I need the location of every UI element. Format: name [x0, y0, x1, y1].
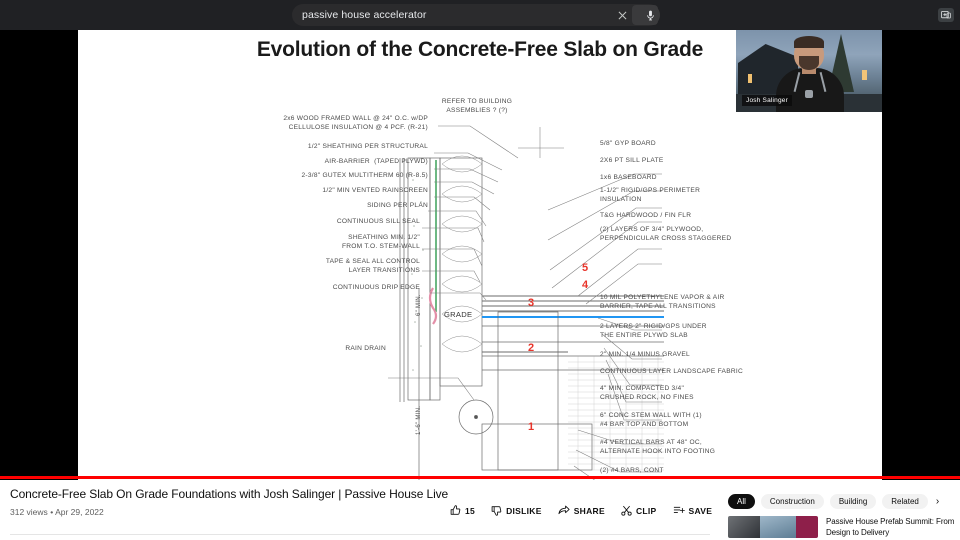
upload-date: Apr 29, 2022: [55, 507, 104, 517]
meta-separator: •: [50, 507, 53, 517]
thumbs-down-icon: [491, 505, 502, 516]
thumbnail-part: [760, 516, 796, 538]
scissors-icon: [621, 505, 632, 516]
share-button[interactable]: SHARE: [558, 505, 605, 516]
video-actions: 15 DISLIKE SHARE CLIP: [450, 505, 737, 516]
omnibox-query: passive house accelerator: [302, 9, 612, 21]
annotation-right: T&G HARDWOOD / FIN FLR: [600, 212, 840, 221]
annotation-rain-drain: RAIN DRAIN: [198, 345, 386, 354]
presenter-webcam: Josh Salinger: [736, 30, 882, 112]
annotation-right: (2) LAYERS OF 3/4" PLYWOOD, PERPENDICULA…: [600, 226, 840, 243]
grade-label: GRADE: [444, 311, 472, 320]
video-player[interactable]: Evolution of the Concrete-Free Slab on G…: [0, 30, 960, 480]
recommendations-rail: All Construction Building Related › Pass…: [720, 480, 960, 540]
annotation-right: 2" MIN. 1/4 MINUS GRAVEL: [600, 351, 840, 360]
chip-construction[interactable]: Construction: [761, 494, 824, 509]
list-item[interactable]: Passive House Prefab Summit: From Design…: [728, 516, 960, 538]
microphone-icon[interactable]: [640, 5, 660, 25]
annotation-left: SHEATHING MIN. 1/2" FROM T.O. STEM-WALL: [158, 234, 420, 251]
progress-bar[interactable]: [0, 476, 960, 479]
recommended-video-title: Passive House Prefab Summit: From Design…: [826, 516, 960, 538]
annotation-left: 2-3/8" GUTEX MULTITHERM 60 (R-8.5): [158, 172, 428, 181]
annotation-left: 1/2" MIN VENTED RAINSCREEN: [158, 187, 428, 196]
like-button[interactable]: 15: [450, 505, 475, 516]
annotation-right: (2) #4 BARS, CONT: [600, 467, 840, 476]
view-count: 312 views: [10, 507, 48, 517]
video-thumbnail: [728, 516, 818, 538]
video-metadata: 312 views • Apr 29, 2022: [10, 507, 104, 517]
annotation-left: CONTINUOUS DRIP EDGE: [158, 284, 420, 293]
presenter-name-tag: Josh Salinger: [742, 95, 792, 106]
layer-marker: 1: [528, 421, 534, 433]
youtube-watch-page: passive house accelerator: [0, 0, 960, 540]
annotation-left: SIDING PER PLAN: [158, 202, 428, 211]
clip-label: CLIP: [636, 506, 657, 516]
annotation-right: CONTINUOUS LAYER LANDSCAPE FABRIC: [600, 368, 840, 377]
layer-marker: 5: [582, 262, 588, 274]
annotation-right: #4 VERTICAL BARS AT 48" OC, ALTERNATE HO…: [600, 439, 840, 456]
presenter-hair: [794, 36, 824, 48]
thumbnail-part: [796, 516, 818, 538]
layer-marker: 4: [582, 279, 588, 291]
annotation-right: 1x6 BASEBOARD: [600, 174, 840, 183]
share-icon: [558, 505, 570, 516]
chevron-right-icon[interactable]: ›: [936, 496, 939, 507]
annotation-left: AIR-BARRIER (TAPED PLYWD): [158, 158, 428, 167]
pendant: [805, 90, 813, 98]
annotation-right: 1-1/2" RIGID/GPS PERIMETER INSULATION: [600, 187, 840, 204]
annotation-right: 10 MIL POLYETHYLENE VAPOR & AIR BARRIER,…: [600, 294, 840, 311]
address-bar[interactable]: passive house accelerator: [292, 4, 660, 26]
layer-marker: 3: [528, 297, 534, 309]
chip-building[interactable]: Building: [830, 494, 876, 509]
chip-all[interactable]: All: [728, 494, 755, 509]
dimension-label-bottom: 1'-6" MIN.: [416, 406, 422, 435]
clip-button[interactable]: CLIP: [621, 505, 657, 516]
chip-related[interactable]: Related: [882, 494, 928, 509]
dislike-label: DISLIKE: [506, 506, 542, 516]
save-button[interactable]: SAVE: [673, 505, 713, 516]
save-label: SAVE: [689, 506, 713, 516]
annotation-center-note: REFER TO BUILDING ASSEMBLIES ? (?): [412, 98, 542, 115]
annotation-left: 2x6 WOOD FRAMED WALL @ 24" O.C. w/DP CEL…: [158, 115, 428, 132]
share-label: SHARE: [574, 506, 605, 516]
annotation-right: 2X6 PT SILL PLATE: [600, 157, 840, 166]
dislike-button[interactable]: DISLIKE: [491, 505, 542, 516]
window-light: [748, 74, 752, 83]
annotation-right: 4" MIN. COMPACTED 3/4" CRUSHED ROCK, NO …: [600, 385, 840, 402]
save-icon: [673, 505, 685, 516]
window-light: [862, 70, 867, 80]
thumbs-up-icon: [450, 505, 461, 516]
section-divider: [10, 534, 710, 535]
browser-toolbar: passive house accelerator: [0, 0, 960, 30]
annotation-left: 1/2" SHEATHING PER STRUCTURAL: [158, 143, 428, 152]
thumbnail-part: [728, 516, 760, 538]
presenter-beard: [799, 56, 819, 70]
annotation-right: 2 LAYERS 2" RIGID/GPS UNDER THE ENTIRE P…: [600, 323, 840, 340]
page-title: Concrete-Free Slab On Grade Foundations …: [10, 487, 448, 501]
annotation-left: CONTINUOUS SILL SEAL: [158, 218, 420, 227]
close-icon[interactable]: [612, 5, 632, 25]
add-tab-icon[interactable]: [938, 8, 954, 22]
layer-marker: 2: [528, 342, 534, 354]
annotation-right: 5/8" GYP BOARD: [600, 140, 840, 149]
filter-chips: All Construction Building Related ›: [728, 494, 939, 509]
progress-played: [0, 476, 960, 479]
like-count: 15: [465, 506, 475, 516]
dimension-label-top: 6" MIN.: [416, 294, 422, 316]
annotation-right: 6" CONC STEM WALL WITH (1) #4 BAR TOP AN…: [600, 412, 840, 429]
annotation-left: TAPE & SEAL ALL CONTROL LAYER TRANSITION…: [158, 258, 420, 275]
